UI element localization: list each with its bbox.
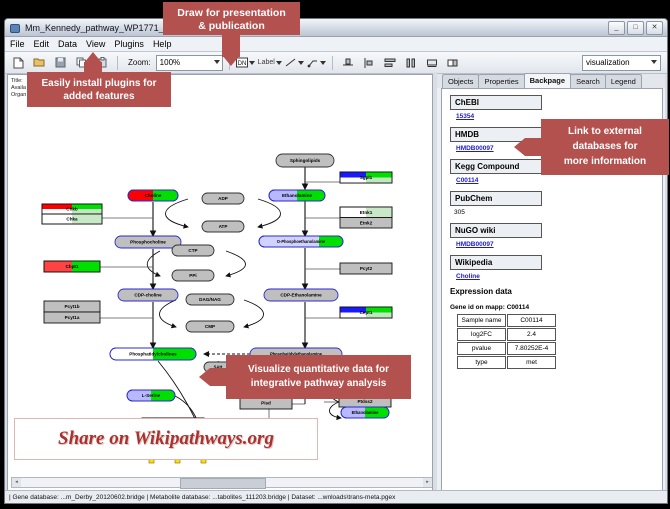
cell-sample-name-label: Sample name — [457, 314, 506, 327]
callout-links-arrow-icon — [514, 138, 525, 156]
svg-text:CDP-Ethanolamine: CDP-Ethanolamine — [280, 293, 322, 298]
table-row: log2FC 2.4 — [457, 328, 556, 341]
gene-node-chkb: Chkb — [42, 204, 102, 214]
db-link-kegg[interactable]: C00114 — [456, 177, 662, 184]
metabolite-node-ppi: PPi — [172, 270, 214, 281]
tab-properties[interactable]: Properties — [478, 74, 524, 88]
svg-text:Etnk1: Etnk1 — [360, 210, 373, 215]
db-header-kegg: Kegg Compound — [450, 159, 542, 174]
gene-node-chpt1: Chpt1 — [44, 261, 100, 272]
cell-log2fc-label: log2FC — [457, 328, 506, 341]
scroll-right-arrow[interactable]: ▸ — [423, 478, 432, 487]
metabolite-node-choline-top: Choline — [128, 190, 178, 201]
tab-search[interactable]: Search — [570, 74, 606, 88]
callout-draw-stem — [222, 35, 240, 57]
interaction-tool[interactable] — [307, 57, 326, 68]
gene-id-label: Gene id on mapp: C00114 — [450, 304, 662, 311]
metabolite-node-cdp-ethanolamine: CDP-Ethanolamine — [264, 289, 338, 301]
db-header-wikipedia: Wikipedia — [450, 255, 542, 270]
callout-visualize-line1: Visualize quantitative data for — [234, 363, 403, 377]
svg-text:Phosphocholine: Phosphocholine — [130, 240, 166, 245]
chevron-down-icon — [276, 61, 282, 65]
svg-text:L-Serine: L-Serine — [142, 393, 161, 398]
svg-text:CDP-choline: CDP-choline — [134, 293, 162, 298]
svg-text:CMP: CMP — [205, 324, 215, 329]
svg-text:Chpt1: Chpt1 — [65, 264, 78, 269]
menu-file[interactable]: File — [10, 39, 25, 49]
gene-node-sgpl1: Sgpl1 — [340, 172, 392, 183]
chevron-down-icon — [651, 60, 657, 64]
table-row: pvalue 7.80252E-4 — [457, 342, 556, 355]
svg-text:Ethanolamine: Ethanolamine — [352, 410, 380, 415]
zoom-label: Zoom: — [128, 58, 151, 67]
cell-log2fc-value: 2.4 — [507, 328, 556, 341]
gene-node-pcyt2: Pcyt2 — [340, 263, 392, 274]
menu-help[interactable]: Help — [153, 39, 172, 49]
svg-text:ATP: ATP — [219, 224, 228, 229]
visualization-combobox[interactable]: visualization — [582, 55, 661, 71]
window-controls: _ □ ✕ — [608, 21, 663, 35]
callout-draw-arrow-icon — [222, 55, 240, 66]
cell-pvalue-label: pvalue — [457, 342, 506, 355]
toolbar: Zoom: 100% DN Label — [5, 52, 667, 74]
callout-links: Link to external databases for more info… — [541, 119, 669, 175]
cell-pvalue-value: 7.80252E-4 — [507, 342, 556, 355]
expression-table: Sample name C00114 log2FC 2.4 pvalue 7.8… — [456, 313, 557, 370]
toolbar-separator-3 — [332, 56, 333, 70]
metabolite-node-ethanolamine-top: Ethanolamine — [269, 190, 325, 201]
callout-plugins: Easily install plugins for added feature… — [27, 72, 171, 107]
callout-draw-line1: Draw for presentation — [171, 7, 292, 20]
menu-view[interactable]: View — [86, 39, 105, 49]
gene-node-etnk1: Etnk1 — [340, 207, 392, 218]
minimize-button[interactable]: _ — [608, 21, 625, 35]
tab-legend[interactable]: Legend — [605, 74, 642, 88]
cell-sample-name-value: C00114 — [507, 314, 556, 327]
distribute-icon[interactable] — [381, 54, 399, 72]
open-folder-icon[interactable] — [30, 54, 48, 72]
metabolite-node-l-serine-left: L-Serine — [127, 390, 175, 401]
callout-plugins-line1: Easily install plugins for — [35, 77, 163, 90]
metabolite-node-ctp: CTP — [172, 245, 214, 256]
callout-links-line2: databases for — [549, 139, 661, 154]
svg-text:Pisd: Pisd — [261, 401, 271, 406]
screenshot-root: Mm_Kennedy_pathway_WP1771_45176.gpml _ □… — [0, 0, 670, 509]
scroll-left-arrow[interactable]: ◂ — [12, 478, 21, 487]
gene-node-etnk2: Etnk2 — [340, 218, 392, 229]
db-header-nugo: NuGO wiki — [450, 223, 542, 238]
wikipathways-banner: Share on Wikipathways.org — [14, 418, 318, 460]
callout-draw-line2: & publication — [171, 20, 292, 33]
svg-text:Etnk2: Etnk2 — [360, 220, 373, 225]
callout-visualize-arrow-icon — [199, 368, 210, 386]
db-header-chebi: ChEBI — [450, 95, 542, 110]
table-row: Sample name C00114 — [457, 314, 556, 327]
svg-text:CTP: CTP — [188, 248, 197, 253]
group-icon[interactable] — [423, 54, 441, 72]
toolbar-separator — [117, 56, 118, 70]
metabolite-node-adp: ADP — [202, 193, 244, 204]
metabolite-node-phosphatidylcholines: Phosphatidylcholines — [110, 348, 196, 360]
label-tool[interactable]: Label — [258, 59, 282, 66]
expression-data-header: Expression data — [450, 287, 662, 296]
metabolite-node-cdp-choline: CDP-choline — [118, 289, 178, 301]
svg-text:Chkb: Chkb — [66, 207, 78, 212]
chevron-down-icon — [320, 61, 326, 65]
close-button[interactable]: ✕ — [646, 21, 663, 35]
menu-plugins[interactable]: Plugins — [114, 39, 144, 49]
gene-node-chka: Chka — [42, 214, 102, 224]
same-width-icon[interactable] — [402, 54, 420, 72]
order-front-icon[interactable] — [444, 54, 462, 72]
svg-text:ADP: ADP — [218, 196, 228, 201]
line-tool[interactable] — [285, 57, 304, 68]
svg-text:Pcyt2: Pcyt2 — [360, 266, 373, 271]
visualization-value: visualization — [586, 58, 630, 67]
svg-text:Cept1: Cept1 — [360, 310, 373, 315]
cell-type-value: met — [507, 356, 556, 369]
gene-node-cept1: Cept1 — [340, 307, 392, 318]
tab-objects[interactable]: Objects — [442, 74, 479, 88]
chevron-down-icon — [249, 61, 255, 65]
side-panel-tabs: Objects Properties Backpage Search Legen… — [437, 74, 665, 88]
callout-links-line1: Link to external — [549, 124, 661, 139]
callout-visualize: Visualize quantitative data for integrat… — [226, 355, 411, 399]
callout-draw: Draw for presentation & publication — [163, 2, 300, 35]
label-tool-label: Label — [258, 59, 275, 66]
new-file-icon[interactable] — [9, 54, 27, 72]
db-link-nugo[interactable]: HMDB00097 — [456, 241, 662, 248]
callout-links-line3: more information — [549, 154, 661, 169]
table-row: type met — [457, 356, 556, 369]
scroll-thumb[interactable] — [180, 478, 266, 489]
metabolite-node-phosphocholine: Phosphocholine — [115, 236, 181, 248]
svg-text:Chka: Chka — [66, 217, 78, 222]
metabolite-node-atp: ATP — [202, 221, 244, 232]
metabolite-node-ethanolamine-right: Ethanolamine — [341, 407, 389, 418]
title-bar: Mm_Kennedy_pathway_WP1771_45176.gpml _ □… — [5, 19, 667, 37]
menu-bar: File Edit Data View Plugins Help — [5, 37, 667, 52]
db-link-wikipedia[interactable]: Choline — [456, 273, 662, 280]
canvas-horizontal-scrollbar[interactable]: ◂ ▸ — [11, 477, 433, 488]
callout-visualize-line2: integrative pathway analysis — [234, 377, 403, 391]
save-icon[interactable] — [51, 54, 69, 72]
svg-text:Phosphatidylcholines: Phosphatidylcholines — [129, 352, 177, 357]
metabolite-node-sphingolipids: Sphingolipids — [276, 154, 334, 167]
svg-text:Pcyt1b: Pcyt1b — [64, 304, 79, 309]
zoom-value: 100% — [160, 58, 180, 67]
callout-plugins-arrow-icon — [84, 52, 102, 63]
wikipathways-banner-text: Share on Wikipathways.org — [58, 428, 274, 450]
callout-plugins-line2: added features — [35, 90, 163, 103]
svg-text:PPi: PPi — [189, 273, 196, 278]
metabolite-node-o-phosphoethanolamine: O-Phosphoethanolamine — [259, 236, 343, 247]
svg-text:Pcyt1a: Pcyt1a — [65, 315, 80, 320]
align-left-icon[interactable] — [360, 54, 378, 72]
zoom-combobox[interactable]: 100% — [156, 55, 223, 71]
metabolite-node-dag-nag: DAG/NAG — [186, 294, 234, 305]
cell-type-label: type — [457, 356, 506, 369]
svg-text:O-Phosphoethanolamine: O-Phosphoethanolamine — [277, 239, 326, 244]
db-header-pubchem: PubChem — [450, 191, 542, 206]
app-icon — [9, 22, 20, 33]
gene-node-pcyt1a: Pcyt1a — [44, 312, 100, 323]
maximize-button[interactable]: □ — [627, 21, 644, 35]
svg-text:Sgpl1: Sgpl1 — [360, 175, 373, 180]
svg-text:DAG/NAG: DAG/NAG — [199, 297, 221, 302]
metabolite-node-cmp: CMP — [186, 321, 234, 332]
svg-text:Sphingolipids: Sphingolipids — [290, 158, 321, 163]
db-value-pubchem: 305 — [454, 209, 662, 216]
menu-edit[interactable]: Edit — [34, 39, 50, 49]
chevron-down-icon — [298, 61, 304, 65]
tab-backpage[interactable]: Backpage — [524, 73, 571, 88]
svg-text:Ptdss2: Ptdss2 — [357, 399, 373, 404]
svg-text:Ethanolamine: Ethanolamine — [282, 193, 313, 198]
status-bar: | Gene database: ...m_Derby_20120602.bri… — [5, 490, 667, 503]
gene-node-pcyt1b: Pcyt1b — [44, 301, 100, 312]
align-top-icon[interactable] — [339, 54, 357, 72]
svg-text:Choline: Choline — [145, 193, 162, 198]
chevron-down-icon — [214, 60, 220, 64]
status-text: | Gene database: ...m_Derby_20120602.bri… — [9, 494, 395, 501]
menu-data[interactable]: Data — [58, 39, 77, 49]
